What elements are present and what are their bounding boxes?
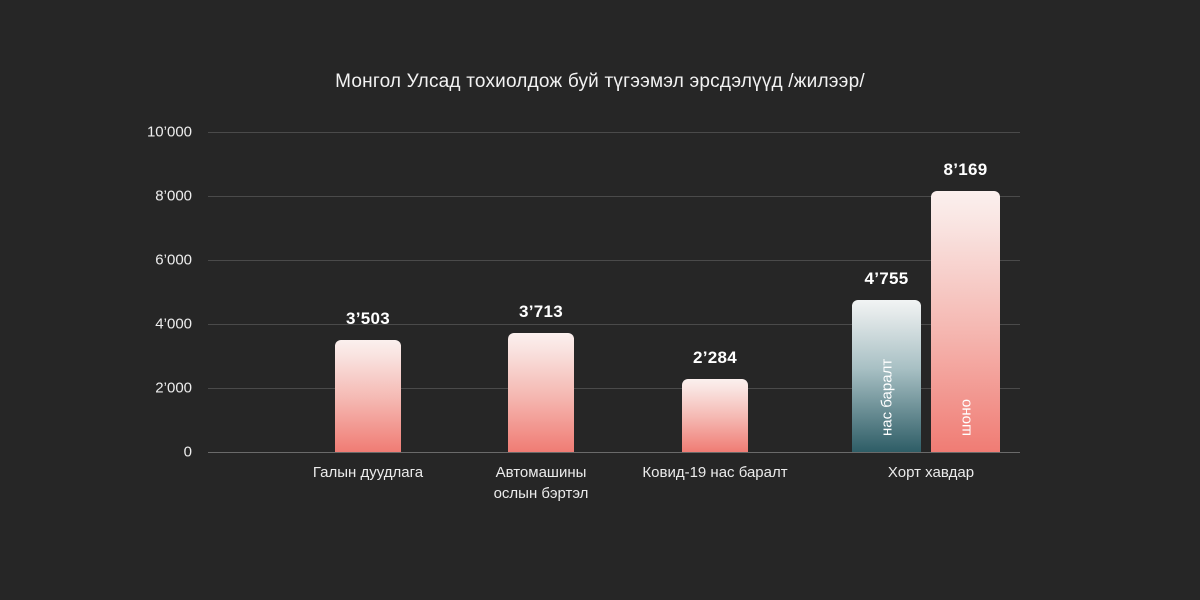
- gridline: [208, 260, 1020, 261]
- gridline: [208, 196, 1020, 197]
- y-axis-tick-label: 8’000: [12, 189, 192, 204]
- chart-title: Монгол Улсад тохиолдож буй түгээмэл эрсд…: [0, 71, 1200, 93]
- bar[interactable]: 8’169шоно: [931, 191, 1000, 452]
- plot-area: 3’5033’7132’2844’755нас баралт8’169шоно: [208, 132, 1020, 452]
- x-axis-tick-label: Галын дуудлага: [258, 462, 478, 483]
- x-axis-tick-line: Хорт хавдар: [801, 462, 1061, 483]
- x-axis-tick-line: ослын бэртэл: [451, 483, 631, 504]
- bar-inner-label: шоно: [957, 399, 974, 436]
- y-axis-tick-label: 4’000: [12, 317, 192, 332]
- y-axis-tick-label: 0: [12, 445, 192, 460]
- bar[interactable]: 3’713: [508, 333, 574, 452]
- x-axis-tick-line: Ковид-19 нас баралт: [595, 462, 835, 483]
- bar-value-label: 8’169: [943, 160, 987, 180]
- x-axis: Галын дуудлагаАвтомашиныослын бэртэлКови…: [208, 462, 1020, 532]
- bar-value-label: 3’713: [519, 302, 563, 322]
- gridline: [208, 132, 1020, 133]
- y-axis-tick-label: 10’000: [12, 125, 192, 140]
- gridline: [208, 452, 1020, 453]
- x-axis-tick-line: Галын дуудлага: [258, 462, 478, 483]
- y-axis-tick-label: 2’000: [12, 381, 192, 396]
- bar-value-label: 2’284: [693, 348, 737, 368]
- bar-inner-label: нас баралт: [878, 359, 895, 436]
- x-axis-tick-label: Хорт хавдар: [801, 462, 1061, 483]
- bar-value-label: 4’755: [864, 269, 908, 289]
- bar-chart: Монгол Улсад тохиолдож буй түгээмэл эрсд…: [0, 0, 1200, 600]
- bar[interactable]: 4’755нас баралт: [852, 300, 921, 452]
- x-axis-tick-label: Ковид-19 нас баралт: [595, 462, 835, 483]
- y-axis-tick-label: 6’000: [12, 253, 192, 268]
- bar-value-label: 3’503: [346, 309, 390, 329]
- bar[interactable]: 2’284: [682, 379, 748, 452]
- bar[interactable]: 3’503: [335, 340, 401, 452]
